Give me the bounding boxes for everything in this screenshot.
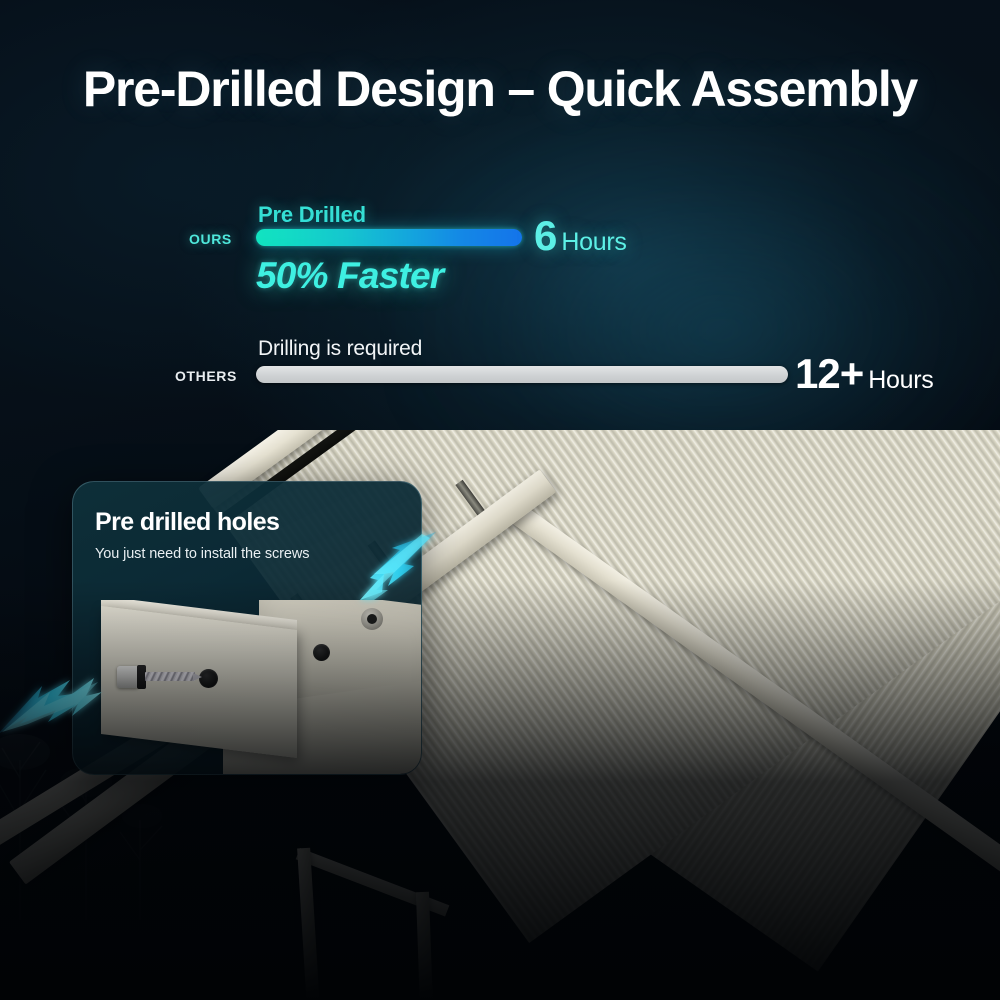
hours-unit-ours: Hours: [561, 228, 626, 256]
bar-caption-others: Drilling is required: [258, 337, 422, 361]
hours-number-ours: 6: [534, 212, 556, 259]
product-infographic: Pre-Drilled Design – Quick Assembly OURS…: [0, 0, 1000, 1000]
progress-bar-ours: [256, 229, 522, 246]
callout-subtitle: You just need to install the screws: [95, 546, 309, 562]
row-label-others: OTHERS: [175, 368, 237, 384]
bottom-vignette: [0, 580, 1000, 1000]
bar-caption-ours: Pre Drilled: [258, 202, 366, 228]
progress-bar-others: [256, 366, 788, 383]
faster-annotation: 50% Faster: [256, 255, 443, 297]
hours-number-others: 12+: [795, 350, 863, 397]
comparison-chart: OURS Pre Drilled 6Hours 50% Faster OTHER…: [0, 0, 1000, 420]
row-label-ours: OURS: [189, 231, 232, 247]
hours-value-ours: 6Hours: [534, 212, 627, 260]
hours-value-others: 12+Hours: [795, 350, 933, 398]
hours-unit-others: Hours: [868, 366, 933, 394]
callout-title: Pre drilled holes: [95, 508, 279, 537]
